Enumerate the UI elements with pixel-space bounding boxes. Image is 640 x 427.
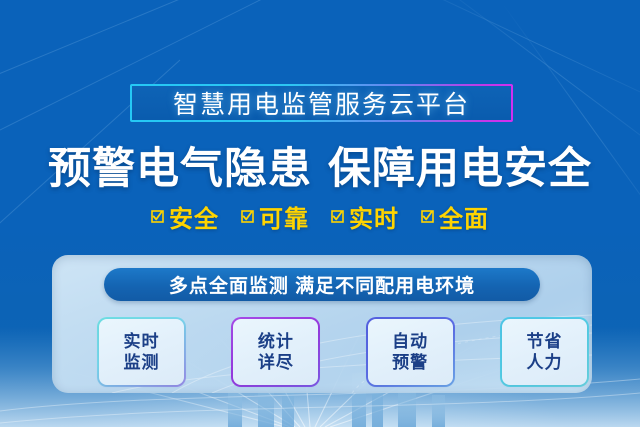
platform-title-text: 智慧用电监管服务云平台 xyxy=(173,85,470,121)
checkbox-checked-icon xyxy=(421,210,434,223)
headline-part-2: 保障用电安全 xyxy=(328,145,592,193)
feature-item-kekao: 可靠 xyxy=(241,199,309,234)
checkbox-checked-icon xyxy=(241,210,254,223)
feature-list: 安全 可靠 实时 xyxy=(0,199,640,234)
card-line-2: 监测 xyxy=(124,352,160,373)
feature-label: 可靠 xyxy=(259,199,309,234)
checkbox-checked-icon xyxy=(151,210,164,223)
feature-item-anquan: 安全 xyxy=(151,199,219,234)
card-line-1: 实时 xyxy=(124,331,160,352)
panel-headline-text: 多点全面监测 满足不同配用电环境 xyxy=(169,271,475,298)
feature-panel: 多点全面监测 满足不同配用电环境 实时 监测 统计 详尽 自动 预警 xyxy=(52,255,592,393)
feature-card-realtime-monitoring[interactable]: 实时 监测 xyxy=(97,317,186,387)
card-line-2: 详尽 xyxy=(258,352,294,373)
poster-canvas: 智慧用电监管服务云平台 预警电气隐患保障用电安全 安全 可靠 xyxy=(0,0,640,427)
feature-item-quanmian: 全面 xyxy=(421,199,489,234)
checkbox-checked-icon xyxy=(331,210,344,223)
feature-label: 安全 xyxy=(169,199,219,234)
feature-label: 实时 xyxy=(349,199,399,234)
panel-headline-pill: 多点全面监测 满足不同配用电环境 xyxy=(104,268,540,301)
feature-card-auto-alarm[interactable]: 自动 预警 xyxy=(366,317,455,387)
feature-card-list: 实时 监测 统计 详尽 自动 预警 节省 人力 xyxy=(97,317,589,387)
feature-card-detailed-statistics[interactable]: 统计 详尽 xyxy=(231,317,320,387)
feature-label: 全面 xyxy=(439,199,489,234)
card-line-1: 统计 xyxy=(258,331,294,352)
headline-part-1: 预警电气隐患 xyxy=(48,145,312,193)
page-title: 预警电气隐患保障用电安全 xyxy=(0,134,640,196)
card-line-2: 预警 xyxy=(392,352,428,373)
feature-item-shishi: 实时 xyxy=(331,199,399,234)
card-line-2: 人力 xyxy=(526,352,562,373)
card-line-1: 自动 xyxy=(392,331,428,352)
platform-title-box: 智慧用电监管服务云平台 xyxy=(130,84,513,122)
card-line-1: 节省 xyxy=(526,331,562,352)
feature-card-save-manpower[interactable]: 节省 人力 xyxy=(500,317,589,387)
